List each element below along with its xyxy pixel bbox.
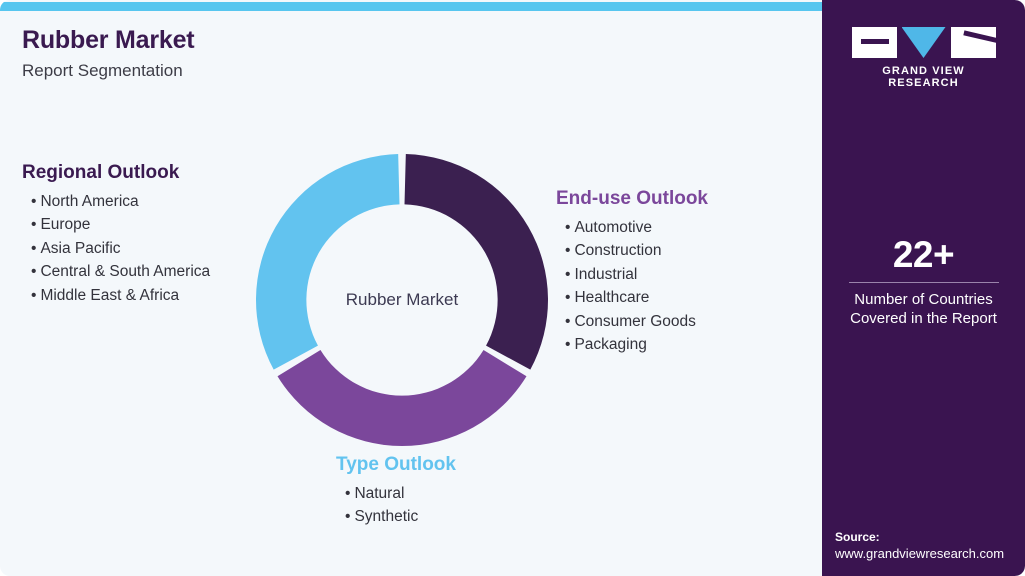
bullet-icon: • [31, 287, 36, 304]
bullet-icon: • [31, 193, 36, 210]
list-item: •Healthcare [565, 286, 708, 310]
list-item-label: Construction [574, 242, 661, 259]
source-block: Source: www.grandviewresearch.com [822, 529, 1025, 562]
donut-segment [256, 154, 399, 370]
donut-chart: Rubber Market [254, 152, 550, 448]
list-item: •Industrial [565, 263, 708, 287]
page-subtitle: Report Segmentation [22, 61, 194, 81]
logo-v-triangle-icon [902, 27, 946, 58]
list-item: •Natural [345, 482, 456, 506]
stat-caption: Number of Countries Covered in the Repor… [822, 290, 1025, 328]
list-item: •North America [31, 190, 210, 214]
bullet-icon: • [565, 336, 570, 353]
donut-chart-svg [254, 152, 550, 448]
infographic-root: Rubber Market Report Segmentation Region… [0, 0, 1025, 576]
title-block: Rubber Market Report Segmentation [22, 26, 194, 81]
stat-block: 22+ Number of Countries Covered in the R… [822, 236, 1025, 328]
page-title: Rubber Market [22, 26, 194, 55]
bullet-icon: • [565, 266, 570, 283]
donut-segment [278, 350, 527, 446]
list-item-label: North America [40, 193, 138, 210]
logo-g-icon [852, 27, 897, 58]
side-panel: GRAND VIEW RESEARCH 22+ Number of Countr… [822, 0, 1025, 576]
list-item-label: Industrial [574, 266, 637, 283]
list-item: •Europe [31, 213, 210, 237]
enduse-outlook-title: End-use Outlook [556, 188, 708, 211]
type-outlook-list: •Natural •Synthetic [345, 482, 456, 529]
bullet-icon: • [565, 219, 570, 236]
list-item-label: Automotive [574, 219, 652, 236]
enduse-outlook-list: •Automotive •Construction •Industrial •H… [565, 216, 708, 357]
list-item: •Synthetic [345, 505, 456, 529]
brand-logo: GRAND VIEW RESEARCH [851, 27, 997, 89]
logo-wordmark: GRAND VIEW RESEARCH [851, 65, 997, 89]
bullet-icon: • [345, 508, 350, 525]
list-item-label: Asia Pacific [40, 240, 120, 257]
source-label: Source: [835, 529, 1012, 545]
bullet-icon: • [565, 313, 570, 330]
bullet-icon: • [31, 216, 36, 233]
donut-segment [405, 154, 548, 370]
bullet-icon: • [565, 289, 570, 306]
list-item: •Central & South America [31, 260, 210, 284]
list-item: •Automotive [565, 216, 708, 240]
logo-marks [851, 27, 997, 58]
type-outlook-block: Type Outlook •Natural •Synthetic [336, 454, 456, 529]
stat-divider [849, 282, 999, 283]
list-item: •Construction [565, 239, 708, 263]
list-item: •Consumer Goods [565, 310, 708, 334]
list-item-label: Synthetic [354, 508, 418, 525]
logo-r-icon [951, 27, 996, 58]
list-item-label: Packaging [574, 336, 646, 353]
list-item: •Middle East & Africa [31, 284, 210, 308]
regional-outlook-list: •North America •Europe •Asia Pacific •Ce… [31, 190, 210, 308]
bullet-icon: • [565, 242, 570, 259]
main-content-area: Rubber Market Report Segmentation Region… [0, 0, 822, 576]
list-item-label: Healthcare [574, 289, 649, 306]
bullet-icon: • [31, 263, 36, 280]
list-item-label: Europe [40, 216, 90, 233]
regional-outlook-title: Regional Outlook [22, 162, 210, 185]
bullet-icon: • [31, 240, 36, 257]
list-item-label: Central & South America [40, 263, 210, 280]
stat-number: 22+ [822, 236, 1025, 273]
enduse-outlook-block: End-use Outlook •Automotive •Constructio… [556, 188, 708, 357]
list-item-label: Middle East & Africa [40, 287, 179, 304]
stat-caption-line-1: Number of Countries [822, 290, 1025, 309]
regional-outlook-block: Regional Outlook •North America •Europe … [22, 162, 210, 307]
type-outlook-title: Type Outlook [336, 454, 456, 477]
stat-caption-line-2: Covered in the Report [822, 309, 1025, 328]
source-url[interactable]: www.grandviewresearch.com [835, 545, 1012, 562]
list-item: •Packaging [565, 333, 708, 357]
list-item: •Asia Pacific [31, 237, 210, 261]
bullet-icon: • [345, 485, 350, 502]
list-item-label: Natural [354, 485, 404, 502]
list-item-label: Consumer Goods [574, 313, 695, 330]
